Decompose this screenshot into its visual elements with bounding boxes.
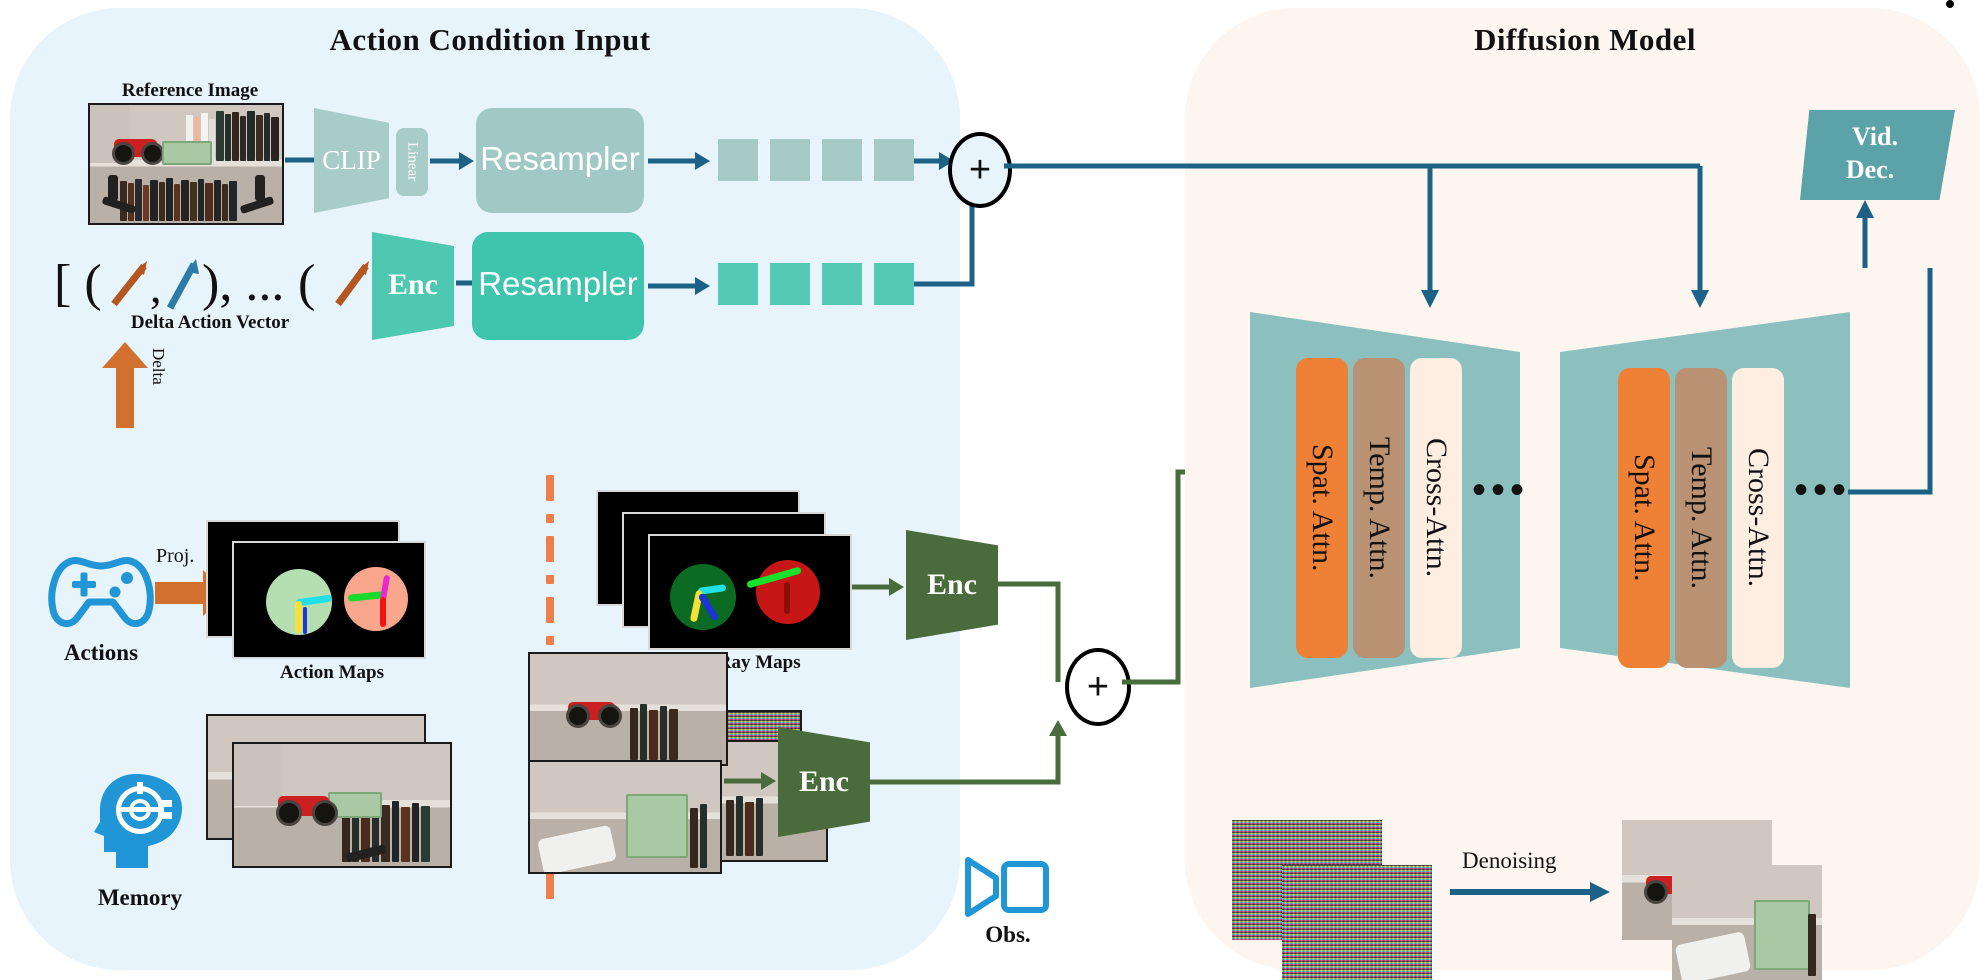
unet-up-temp-attn: Temp. Attn.	[1675, 368, 1727, 668]
delta-arrow	[98, 342, 152, 428]
unet-down-temp-attn: Temp. Attn.	[1353, 358, 1405, 658]
action-token-1	[718, 263, 758, 305]
connector-unet-to-decoder	[1830, 160, 1960, 500]
connector-obs-enc-to-sum	[868, 718, 1118, 808]
image-token-1	[718, 139, 758, 181]
action-map-left-yellow-stick	[295, 601, 302, 633]
right-panel-title: Diffusion Model	[1385, 22, 1785, 58]
actions-label: Actions	[36, 640, 166, 666]
blue-sum-node	[1946, 0, 1954, 8]
unet-up-cross-attn: Cross-Attn.	[1732, 368, 1784, 668]
unet-up-temp-attn-label: Temp. Attn.	[1684, 447, 1718, 589]
arrow-obs-to-enc	[724, 770, 776, 792]
action-enc-label: Enc	[372, 268, 454, 302]
arrow-linear-to-resampler	[430, 150, 474, 172]
ray-map-darkred-stick	[784, 582, 790, 614]
unet-down-spat-attn-label: Spat. Attn.	[1305, 444, 1339, 572]
memory-photo-front	[232, 742, 452, 868]
svg-text:(: (	[298, 255, 315, 312]
svg-text:[ (: [ (	[54, 255, 102, 312]
resampler-action-label: Resampler	[472, 265, 644, 303]
delta-action-vector-label: Delta Action Vector	[95, 312, 325, 334]
action-token-4	[874, 263, 914, 305]
arrow-raymaps-to-enc	[852, 576, 904, 598]
memory-head-icon	[92, 770, 184, 870]
delta-arrow-label: Delta	[148, 348, 168, 385]
denoised-input-front	[1282, 865, 1432, 980]
unet-down-temp-attn-label: Temp. Attn.	[1362, 437, 1396, 579]
obs-label: Obs.	[948, 922, 1068, 948]
memory-label: Memory	[70, 885, 210, 911]
reference-image-label: Reference Image	[95, 80, 285, 102]
unet-up-spat-attn: Spat. Attn.	[1618, 368, 1670, 668]
action-map-left-blue-stick	[303, 607, 307, 634]
arrow-resampler2-to-tokens	[648, 275, 710, 297]
condition-sum-symbol: +	[969, 151, 991, 189]
ray-map-front	[648, 534, 852, 650]
obs-enc-label: Enc	[778, 765, 870, 799]
unet-down-cross-attn: Cross-Attn.	[1410, 358, 1462, 658]
denoised-output-front	[1672, 865, 1822, 980]
linear-label: Linear	[396, 128, 428, 196]
unet-down-cross-attn-label: Cross-Attn.	[1419, 438, 1453, 577]
left-panel-title: Action Condition Input	[240, 22, 740, 58]
camera-icon	[964, 856, 1050, 918]
svg-text:,: ,	[150, 261, 162, 312]
unet-up-cross-attn-label: Cross-Attn.	[1741, 448, 1775, 587]
image-token-2	[770, 139, 810, 181]
unet-up-spat-attn-label: Spat. Attn.	[1627, 454, 1661, 582]
action-maps-label: Action Maps	[242, 662, 422, 684]
image-token-3	[822, 139, 862, 181]
svg-text:), ...: ), ...	[202, 255, 284, 312]
action-map-front	[232, 541, 426, 659]
unet-down-spat-attn: Spat. Attn.	[1296, 358, 1348, 658]
delta-action-vector-expression: [ ( , ), ... (	[52, 250, 352, 320]
action-token-3	[822, 263, 862, 305]
image-token-4	[874, 139, 914, 181]
unet-down-ellipsis: •••	[1472, 468, 1529, 513]
obs-photo-bottom	[528, 760, 722, 874]
arrow-denoising	[1450, 880, 1610, 904]
obs-photo-front	[528, 652, 728, 766]
proj-label: Proj.	[156, 545, 194, 568]
arrow-resampler-to-tokens	[648, 150, 710, 172]
clip-label: CLIP	[314, 145, 389, 176]
connector-ray-enc-to-sum	[996, 570, 1116, 690]
action-map-right-red-stick	[380, 597, 386, 627]
denoising-label: Denoising	[1462, 848, 1557, 874]
video-decoder-label-line1: Vid.	[1800, 122, 1950, 152]
action-token-2	[770, 263, 810, 305]
reference-image-photo	[88, 103, 284, 225]
resampler-image-label: Resampler	[476, 140, 644, 178]
ray-enc-label: Enc	[906, 568, 998, 602]
gamepad-icon	[45, 552, 157, 632]
